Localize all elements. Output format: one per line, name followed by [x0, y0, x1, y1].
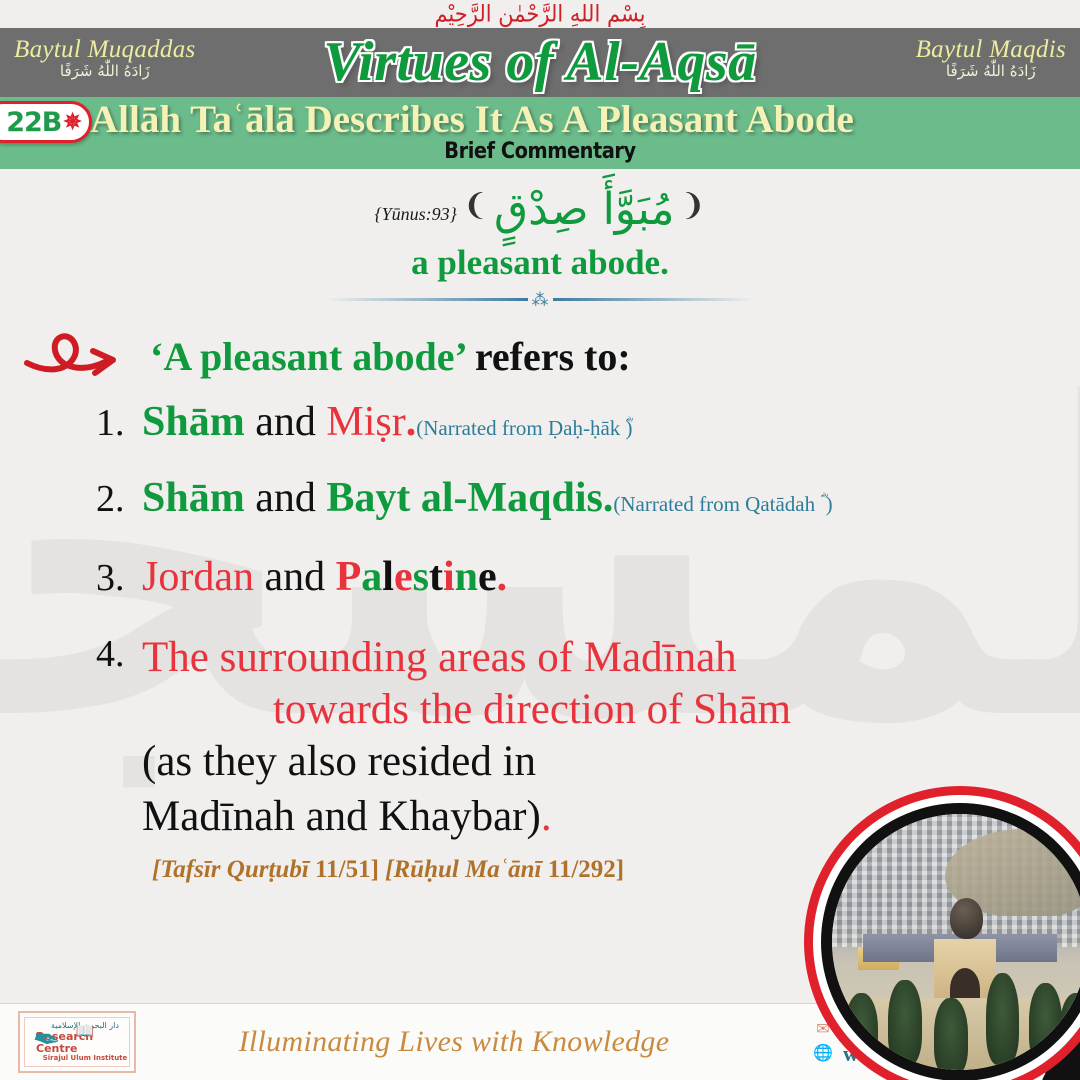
al-aqsa-photo: [832, 814, 1080, 1070]
item4-line2: towards the direction of Shām: [142, 684, 922, 736]
divider-bar-left: [325, 298, 528, 301]
intro-highlight: ‘A pleasant abode’: [150, 334, 465, 379]
divider-knot-icon: ⁂: [528, 291, 553, 308]
text-run: i: [443, 554, 455, 600]
header-bar: Baytul Muqaddas زَادَهُ اللّٰهُ شَرَفًا …: [0, 28, 1080, 97]
al-aqsa-photo-frame: [804, 786, 1080, 1080]
ornament-left-icon: ❨: [463, 191, 488, 221]
photo-ring-white: [813, 795, 1080, 1080]
text-run: P: [336, 554, 362, 600]
text-run: and: [245, 475, 327, 521]
intro-row: ‘A pleasant abode’ refers to:: [0, 325, 1080, 387]
list-item-attribution: (Narrated from Qatādah ؓ ): [613, 492, 832, 517]
text-run: t: [429, 554, 443, 600]
text-run: and: [245, 399, 327, 445]
section-band: 22B ✵ Allāh Taʿālā Describes It As A Ple…: [0, 97, 1080, 169]
item4-cont-line2: Madīnah and Khaybar): [142, 793, 541, 840]
divider-bar-right: [553, 298, 756, 301]
intro-rest: refers to:: [465, 334, 631, 379]
item4-line1: The surrounding areas of Madīnah: [142, 634, 737, 681]
list-item-text: Shām and Bayt al-Maqdis.: [142, 474, 613, 522]
list-item-number: 4.: [96, 632, 142, 676]
list-item-text: Shām and Miṣr.: [142, 398, 416, 446]
citation-second-page: 11/292]: [541, 856, 624, 883]
verse-reference: {Yūnus:93}: [374, 204, 456, 225]
section-subtitle: Brief Commentary: [65, 139, 1015, 164]
citation-second-name: [Rūḥul Maʿānī: [379, 856, 542, 883]
section-badge: 22B ✵: [0, 101, 92, 143]
corner-label-right: Baytul Maqdis زَادَهُ اللّٰهُ شَرَفًا: [916, 37, 1066, 80]
list-item-number: 2.: [96, 477, 142, 521]
intro-text: ‘A pleasant abode’ refers to:: [150, 333, 631, 380]
asterisk-icon: ✵: [63, 111, 81, 133]
verse-block: {Yūnus:93} ❨ مُبَوَّأَ صِدْقٍ ❩ a pleasa…: [0, 180, 1080, 306]
text-run: Jordan: [142, 554, 254, 600]
text-run: and: [254, 554, 336, 600]
text-run: Shām: [142, 399, 245, 445]
bismillah-text: بِسْمِ اللهِ الرَّحْمٰنِ الرَّحِيْمِ: [434, 2, 645, 25]
list-item: 4. The surrounding areas of Madīnah towa…: [0, 632, 1080, 735]
text-run: e: [478, 554, 497, 600]
list-item: 2. Shām and Bayt al-Maqdis. (Narrated fr…: [0, 474, 1080, 553]
corner-label-right-ar: زَادَهُ اللّٰهُ شَرَفًا: [916, 64, 1066, 80]
section-title: Allāh Taʿālā Describes It As A Pleasant …: [90, 97, 1074, 141]
bismillah-bar: بِسْمِ اللهِ الرَّحْمٰنِ الرَّحِيْمِ: [0, 0, 1080, 28]
globe-icon: 🌐: [812, 1046, 834, 1062]
text-run: a: [361, 554, 382, 600]
verse-arabic: مُبَوَّأَ صِدْقٍ: [494, 180, 674, 239]
badge-number: 22B: [0, 107, 61, 138]
citation-first-page: 11/51]: [309, 856, 379, 883]
list-item-attribution: (Narrated from Ḍaḥ-ḥāk ؓ): [416, 416, 632, 441]
list-item: 3. Jordan and Palestine.: [0, 553, 1080, 632]
poster-root: المسجد بِسْمِ اللهِ الرَّحْمٰنِ الرَّحِي…: [0, 0, 1080, 1080]
citation-first-name: [Tafsīr Qurṭubī: [152, 856, 309, 883]
list-item-number: 3.: [96, 556, 142, 600]
text-run: s: [413, 554, 429, 600]
list-item-text: Jordan and Palestine.: [142, 553, 507, 601]
verse-translation: a pleasant abode.: [0, 243, 1080, 283]
list-item: 1. Shām and Miṣr. (Narrated from Ḍaḥ-ḥāk…: [0, 398, 1080, 474]
text-run: n: [455, 554, 478, 600]
text-run: Miṣr: [326, 399, 405, 445]
corner-label-right-en: Baytul Maqdis: [916, 37, 1066, 63]
text-run: l: [382, 554, 394, 600]
red-loop-arrow-icon: [0, 325, 150, 387]
institute-logo: ✒ 📖 دار البحوث الإسلامية Research Centre…: [18, 1011, 136, 1073]
text-run: e: [394, 554, 413, 600]
verse-arabic-line: {Yūnus:93} ❨ مُبَوَّأَ صِدْقٍ ❩: [0, 180, 1080, 239]
text-run: .: [497, 554, 508, 600]
list-item-text: The surrounding areas of Madīnah towards…: [142, 632, 1032, 735]
text-run: .: [406, 399, 417, 445]
ornament-right-icon: ❩: [680, 191, 705, 221]
item4-cont-period: .: [541, 793, 552, 840]
text-run: Shām: [142, 475, 245, 521]
open-book-icon: 📖: [76, 1025, 95, 1040]
item4-cont-line1: (as they also resided in: [142, 735, 1080, 790]
text-run: Bayt al-Maqdis.: [326, 475, 613, 521]
photo-ring-black: [821, 803, 1080, 1080]
decorative-divider: ⁂: [325, 292, 755, 306]
footer-tagline: Illuminating Lives with Knowledge: [136, 1025, 812, 1059]
list-item-number: 1.: [96, 401, 142, 445]
